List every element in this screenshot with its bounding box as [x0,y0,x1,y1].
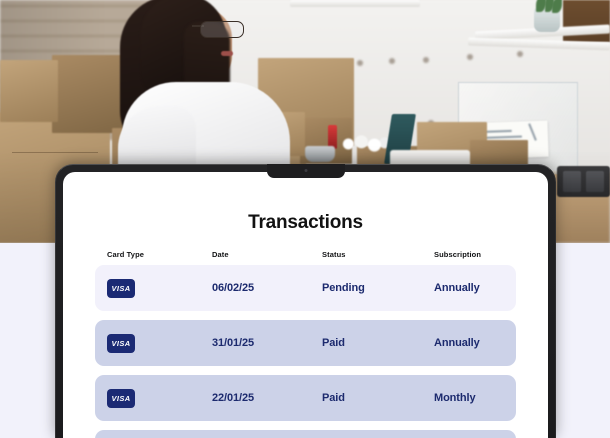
visa-logo-icon: VISA [107,279,135,298]
table-row[interactable] [95,430,516,438]
cell-status: Paid [322,392,434,404]
column-header-status: Status [322,250,434,259]
laptop-screen: Transactions Card Type Date Status Subsc… [63,172,548,438]
page-title: Transactions [95,212,516,234]
photo-wall-dot [517,51,523,57]
visa-logo-icon: VISA [107,334,135,353]
cell-card-type: VISA [107,389,212,408]
photo-brown-column [563,0,610,42]
cell-date: 31/01/25 [212,337,322,349]
laptop-notch [267,164,345,178]
photo-wall-dot [423,57,429,63]
cell-subscription: Annually [434,282,504,294]
column-header-date: Date [212,250,322,259]
cell-date: 06/02/25 [212,282,322,294]
photo-person-glasses [200,21,244,38]
photo-cardboard-box [0,60,58,122]
cell-status: Paid [322,337,434,349]
photo-wall-dot [467,54,473,60]
table-row[interactable]: VISA 31/01/25 Paid Annually [95,320,516,366]
camera-icon [304,169,307,172]
cell-card-type: VISA [107,279,212,298]
table-row[interactable]: VISA 22/01/25 Paid Monthly [95,375,516,421]
cell-date: 22/01/25 [212,392,322,404]
cell-subscription: Annually [434,337,504,349]
laptop-device: Transactions Card Type Date Status Subsc… [55,164,556,438]
photo-person-lips [221,51,233,56]
column-header-subscription: Subscription [434,250,504,259]
transactions-app: Transactions Card Type Date Status Subsc… [63,172,548,438]
transactions-table: Card Type Date Status Subscription VISA … [95,250,516,438]
cell-subscription: Monthly [434,392,504,404]
visa-logo-label: VISA [111,339,130,348]
table-row[interactable]: VISA 06/02/25 Pending Annually [95,265,516,311]
visa-logo-label: VISA [111,284,130,293]
photo-shelf-top-left [290,0,420,7]
visa-logo-icon: VISA [107,389,135,408]
visa-logo-label: VISA [111,394,130,403]
cell-status: Pending [322,282,434,294]
table-header-row: Card Type Date Status Subscription [95,250,516,265]
photo-wall-dot [389,58,395,64]
column-header-card-type: Card Type [107,250,212,259]
photo-wall-dot [357,60,363,66]
cell-card-type: VISA [107,334,212,353]
